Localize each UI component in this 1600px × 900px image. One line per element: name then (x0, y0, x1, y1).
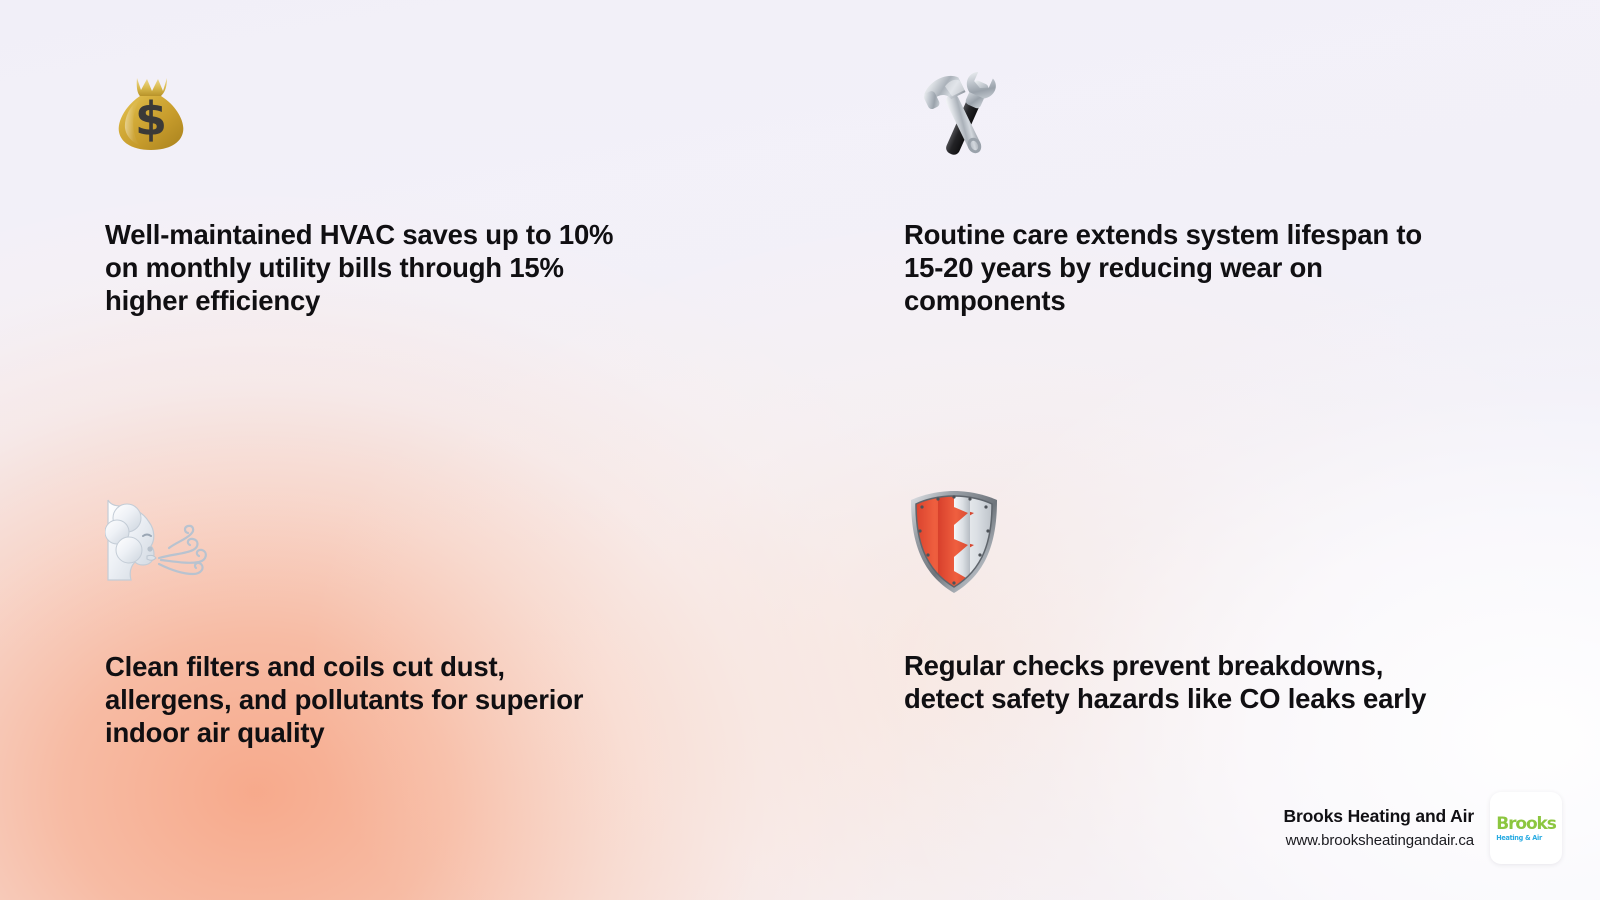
footer-branding: Brooks Heating and Air www.brooksheating… (1283, 792, 1562, 864)
footer-text-block: Brooks Heating and Air www.brooksheating… (1283, 808, 1474, 848)
benefit-card-safety: Regular checks prevent breakdowns, detec… (904, 487, 1504, 715)
brooks-logo-wordmark: Brooks (1496, 817, 1556, 833)
benefit-text-savings: Well-maintained HVAC saves up to 10% on … (105, 218, 705, 317)
benefit-card-grid: $ Well-maintained HVAC saves up to 10% o… (0, 0, 1600, 900)
benefit-card-savings: $ Well-maintained HVAC saves up to 10% o… (105, 66, 705, 317)
wind-face-icon (105, 492, 705, 588)
company-name: Brooks Heating and Air (1283, 808, 1474, 826)
hammer-and-wrench-icon (904, 62, 1504, 166)
svg-text:$: $ (135, 92, 167, 146)
money-bag-icon: $ (105, 66, 705, 170)
benefit-text-safety: Regular checks prevent breakdowns, detec… (904, 649, 1489, 715)
brooks-logo-tagline: Heating & Air (1496, 834, 1542, 841)
shield-icon (904, 487, 1504, 595)
benefit-card-lifespan: Routine care extends system lifespan to … (904, 62, 1504, 317)
benefit-text-air-quality: Clean filters and coils cut dust, allerg… (105, 650, 705, 749)
brooks-logo-mark: Brooks Heating & Air (1496, 817, 1556, 840)
brooks-logo-card: Brooks Heating & Air (1490, 792, 1562, 864)
benefit-card-air-quality: Clean filters and coils cut dust, allerg… (105, 492, 705, 749)
company-website[interactable]: www.brooksheatingandair.ca (1283, 833, 1474, 848)
infographic-canvas: $ Well-maintained HVAC saves up to 10% o… (0, 0, 1600, 900)
benefit-text-lifespan: Routine care extends system lifespan to … (904, 218, 1479, 317)
